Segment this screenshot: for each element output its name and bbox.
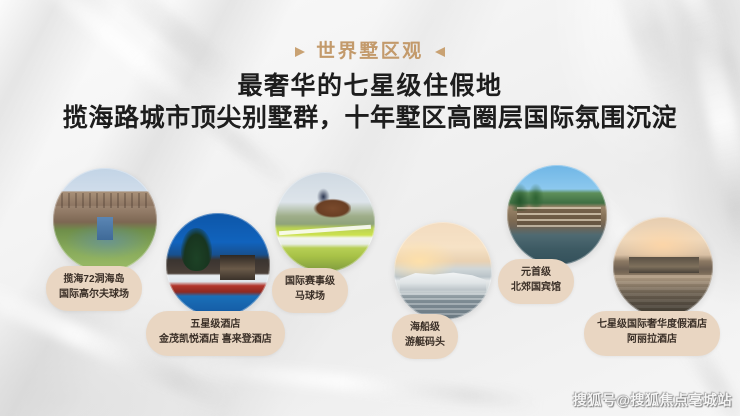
- label-line-2: 北郊国宾馆: [511, 281, 561, 296]
- hotel-gate-night-photo: [166, 213, 270, 317]
- showcase-item-hotels[interactable]: 五星级酒店 金茂凯悦酒店 喜来登酒店: [152, 213, 270, 317]
- label-line-2: 马球场: [285, 290, 335, 305]
- showcase-item-guesthouse[interactable]: 元首级 北郊国宾馆: [498, 165, 607, 265]
- label-line-1: 七星级国际奢华度假酒店: [597, 318, 707, 333]
- eyebrow-row: 世界墅区观: [0, 42, 740, 61]
- showcase-item-marina[interactable]: 海船级 游艇码头: [392, 222, 492, 320]
- showcase-label-polo: 国际赛事级 马球场: [272, 268, 348, 313]
- label-line-1: 海船级: [405, 321, 445, 336]
- yacht-marina-artwork: [394, 222, 492, 320]
- label-line-2: 国际高尔夫球场: [59, 288, 129, 303]
- equestrian-artwork: [275, 172, 375, 272]
- triangle-left-marker-icon: [435, 47, 445, 57]
- label-line-1: 国际赛事级: [285, 275, 335, 290]
- showcase-label-alila: 七星级国际奢华度假酒店 阿丽拉酒店: [584, 311, 720, 356]
- showcase-item-golf[interactable]: 揽海72洞海岛 国际高尔夫球场: [46, 168, 157, 272]
- label-line-2: 阿丽拉酒店: [597, 333, 707, 348]
- showcase-label-guesthouse: 元首级 北郊国宾馆: [498, 259, 574, 304]
- poster-canvas: 世界墅区观 最奢华的七星级住假地 揽海路城市顶尖别墅群，十年墅区高圈层国际氛围沉…: [0, 0, 740, 416]
- label-line-2: 金茂凯悦酒店 喜来登酒店: [159, 333, 272, 348]
- label-line-2: 游艇码头: [405, 336, 445, 351]
- hotel-gate-artwork: [166, 213, 270, 317]
- showcase-item-polo[interactable]: 国际赛事级 马球场: [272, 172, 375, 272]
- triangle-right-marker-icon: [295, 47, 305, 57]
- poster-header: 世界墅区观 最奢华的七星级住假地 揽海路城市顶尖别墅群，十年墅区高圈层国际氛围沉…: [0, 42, 740, 134]
- golf-resort-photo: [53, 168, 157, 272]
- showcase-label-golf: 揽海72洞海岛 国际高尔夫球场: [46, 266, 142, 311]
- alila-resort-lake-photo: [613, 217, 713, 317]
- showcase-label-hotels: 五星级酒店 金茂凯悦酒店 喜来登酒店: [146, 311, 285, 356]
- label-line-1: 元首级: [511, 266, 561, 281]
- headline-line-2: 揽海路城市顶尖别墅群，十年墅区高圈层国际氛围沉淀: [0, 102, 740, 134]
- showcase-item-alila[interactable]: 七星级国际奢华度假酒店 阿丽拉酒店: [592, 217, 713, 317]
- label-line-1: 五星级酒店: [159, 318, 272, 333]
- eyebrow-title: 世界墅区观: [316, 42, 424, 61]
- yacht-marina-photo: [394, 222, 492, 320]
- headline-line-1: 最奢华的七星级住假地: [0, 70, 740, 102]
- alila-resort-artwork: [613, 217, 713, 317]
- equestrian-show-jumping-photo: [275, 172, 375, 272]
- golf-resort-artwork: [53, 168, 157, 272]
- source-watermark: 搜狐号@搜狐焦点亳城站: [573, 390, 732, 410]
- showcase-label-marina: 海船级 游艇码头: [392, 314, 458, 359]
- label-line-1: 揽海72洞海岛: [59, 273, 129, 288]
